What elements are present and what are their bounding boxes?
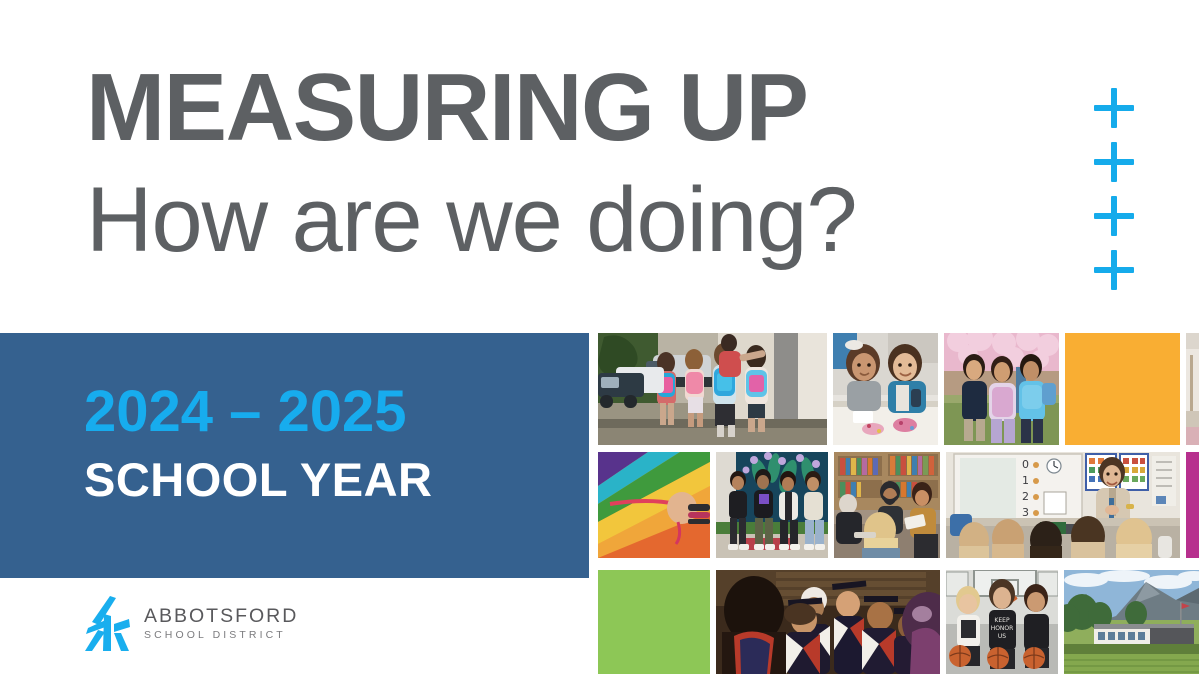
headline-block: MEASURING UP How are we doing? (86, 62, 1046, 266)
tile-green-color-block (598, 570, 710, 674)
svg-text:2: 2 (1022, 490, 1029, 503)
tile-teacher-leading-classroom: 0123 (946, 452, 1180, 558)
plus-icon (1092, 140, 1136, 184)
tile-students-crafting-at-table (833, 333, 938, 445)
district-logo: ABBOTSFORD SCHOOL DISTRICT (80, 592, 310, 656)
plus-decoration-group (1092, 86, 1148, 286)
logo-subtitle: SCHOOL DISTRICT (144, 629, 298, 642)
svg-text:3: 3 (1022, 506, 1029, 519)
tile-classroom-edge-crop (1186, 333, 1199, 445)
svg-text:KEEP: KEEP (994, 617, 1010, 624)
svg-text:HONOR: HONOR (991, 625, 1014, 632)
tile-students-walking-with-backpacks (598, 333, 827, 445)
svg-text:US: US (998, 633, 1006, 640)
svg-text:1: 1 (1022, 474, 1029, 487)
tile-library-discussion-group (834, 452, 940, 558)
abbotsford-a-mark-icon (80, 595, 134, 653)
tile-rainbow-playground-pavement (598, 452, 710, 558)
photo-mosaic: 0123 (597, 333, 1199, 674)
tile-school-building-with-mountain (1064, 570, 1199, 674)
poster-canvas: MEASURING UP How are we doing? 2024 – 20… (0, 0, 1199, 674)
plus-icon (1092, 194, 1136, 238)
school-year-label: SCHOOL YEAR (84, 456, 433, 503)
tile-students-under-cherry-blossoms (944, 333, 1059, 445)
svg-text:0: 0 (1022, 458, 1029, 471)
tile-basketball-team-players: KEEPHONORUS (946, 570, 1058, 674)
school-year-panel: 2024 – 2025 SCHOOL YEAR (0, 333, 589, 578)
tile-orange-color-block (1065, 333, 1180, 445)
plus-icon (1092, 86, 1136, 130)
year-range-label: 2024 – 2025 (84, 383, 407, 441)
plus-icon (1092, 248, 1136, 292)
logo-name: ABBOTSFORD (144, 606, 298, 626)
logo-wordmark: ABBOTSFORD SCHOOL DISTRICT (144, 606, 298, 641)
tile-students-in-front-of-mural (716, 452, 828, 558)
page-subtitle: How are we doing? (86, 174, 1046, 266)
page-title: MEASURING UP (86, 62, 1036, 154)
tile-graduation-ceremony (716, 570, 940, 674)
tile-magenta-color-block (1186, 452, 1199, 558)
